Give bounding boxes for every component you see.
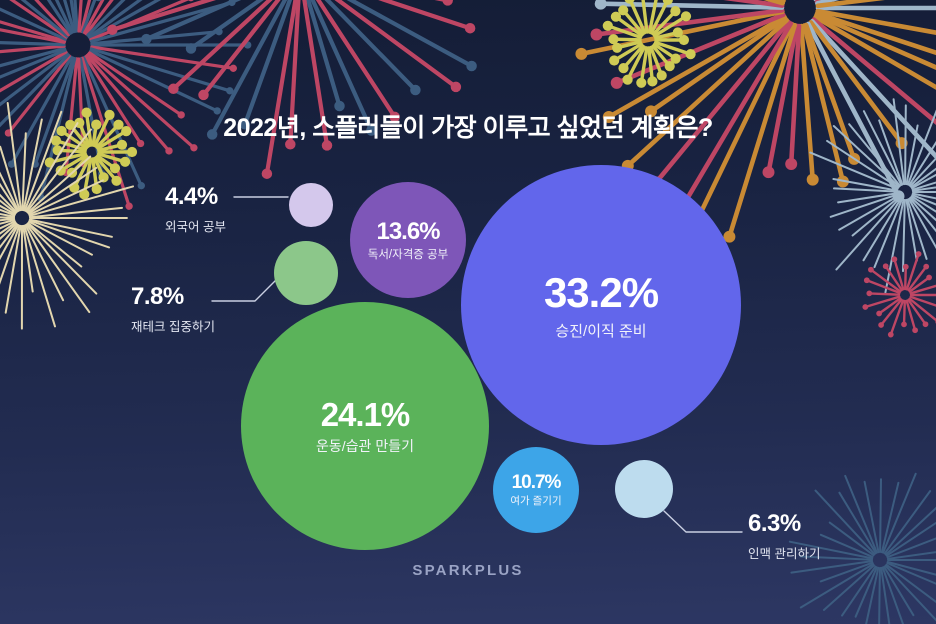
callout-value-재테크-집중하기: 7.8% — [131, 283, 215, 311]
bubble-value-여가-즐기기: 10.7% — [512, 473, 561, 493]
bubble-label-승진-이직-준비: 승진/이직 준비 — [555, 324, 646, 340]
sparkplus-logo: SPARKPLUS — [0, 562, 936, 579]
page-title: 2022년, 스플러들이 가장 이루고 싶었던 계획은? — [0, 108, 936, 144]
bubble-value-독서-자격증-공부: 13.6% — [376, 219, 439, 244]
callout-인맥-관리하기[interactable]: 6.3%인맥 관리하기 — [748, 510, 820, 562]
bubble-승진-이직-준비[interactable]: 33.2%승진/이직 준비 — [461, 165, 741, 445]
firework-burst — [93, 0, 477, 179]
infographic-canvas: 2022년, 스플러들이 가장 이루고 싶었던 계획은? 33.2%승진/이직 … — [0, 0, 936, 624]
bubble-여가-즐기기[interactable]: 10.7%여가 즐기기 — [493, 447, 579, 533]
callout-value-인맥-관리하기: 6.3% — [748, 510, 820, 538]
callout-label-외국어-공부: 외국어 공부 — [165, 216, 226, 235]
callout-label-재테크-집중하기: 재테크 집중하기 — [131, 316, 215, 335]
bubble-label-여가-즐기기: 여가 즐기기 — [510, 496, 561, 507]
bubble-label-독서-자격증-공부: 독서/자격증 공부 — [368, 249, 448, 261]
firework-burst — [603, 0, 696, 88]
bubble-label-운동-습관-만들기: 운동/습관 만들기 — [316, 439, 414, 454]
callout-외국어-공부[interactable]: 4.4%외국어 공부 — [165, 183, 226, 235]
callout-value-외국어-공부: 4.4% — [165, 183, 226, 211]
firework-burst — [0, 0, 251, 210]
leader-line-인맥-관리하기 — [664, 511, 742, 532]
bubble-value-승진-이직-준비: 33.2% — [544, 271, 658, 315]
bubble-재테크-집중하기[interactable] — [274, 241, 338, 305]
callout-재테크-집중하기[interactable]: 7.8%재테크 집중하기 — [131, 283, 215, 335]
firework-burst — [862, 251, 936, 337]
callout-label-인맥-관리하기: 인맥 관리하기 — [748, 543, 820, 562]
bubble-독서-자격증-공부[interactable]: 13.6%독서/자격증 공부 — [350, 182, 466, 298]
bubble-value-운동-습관-만들기: 24.1% — [321, 398, 410, 433]
bubble-외국어-공부[interactable] — [289, 183, 333, 227]
bubble-인맥-관리하기[interactable] — [615, 460, 673, 518]
bubble-운동-습관-만들기[interactable]: 24.1%운동/습관 만들기 — [241, 302, 489, 550]
